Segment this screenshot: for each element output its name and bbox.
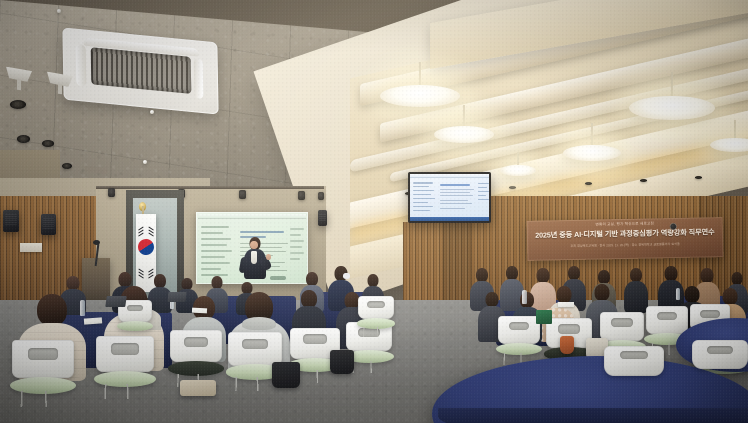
tv-right-item (478, 191, 489, 192)
screen-sidebar-item (201, 226, 229, 228)
screen-right-item (290, 246, 302, 248)
tv-sidebar-item (413, 186, 429, 187)
screen-text-line (240, 266, 280, 267)
tv-text-line (440, 200, 468, 201)
soffit-downlight-6 (640, 179, 647, 182)
bag (330, 350, 354, 374)
wall-speaker-center (41, 214, 56, 235)
screen-right-item (290, 234, 301, 236)
screen-text-line (240, 262, 285, 263)
ceiling-speaker-stem-2 (58, 84, 62, 94)
rect-table-rear-left (208, 296, 296, 344)
event-banner: 변화의 교실, 평가 혁신으로 새로고침 2025년 중등 AI·디지털 기반 … (527, 217, 724, 261)
screen-right-item (290, 228, 304, 230)
tv-sidebar-item (413, 210, 430, 211)
laptop[interactable] (105, 296, 127, 307)
downlight-3 (42, 140, 54, 147)
track-light-5 (318, 192, 324, 200)
track-light-rail (96, 186, 324, 189)
screen-sidebar-item (201, 274, 228, 276)
downlight-1 (10, 100, 26, 109)
screen-text-line (240, 247, 282, 248)
tv-text-line (440, 189, 474, 190)
track-light-3 (239, 190, 246, 199)
screen-text-line (240, 251, 286, 252)
tv-heading (440, 184, 470, 186)
ac-vane-right (194, 58, 204, 99)
taeguk-symbol-icon (135, 236, 157, 258)
rect-table-rear-center (300, 292, 382, 336)
tv-sidebar-item (413, 202, 428, 203)
tv-sidebar-item (413, 198, 435, 199)
tv-right-item (478, 187, 487, 188)
screen-right-item (290, 258, 300, 260)
screen-text-line (240, 270, 287, 271)
tv-text-line (440, 208, 465, 209)
tv-sidebar-item (413, 182, 433, 184)
screen-sidebar-item (201, 268, 221, 270)
track-light-4 (298, 191, 305, 200)
downlight-2 (17, 135, 30, 143)
downlight-5 (62, 163, 72, 169)
screen-sidebar-item (201, 244, 227, 246)
conference-room-photo: 변화의 교실, 평가 혁신으로 새로고침 2025년 중등 AI·디지털 기반 … (0, 0, 748, 423)
tv-text-line (440, 195, 473, 196)
tv-text-line (440, 203, 472, 204)
screen-primary-button (270, 276, 286, 280)
water-bottle (522, 290, 527, 304)
soffit-downlight-7 (695, 176, 702, 179)
laptop[interactable] (167, 292, 186, 302)
korean-national-flag (136, 214, 156, 292)
tv-app-toolbar (410, 174, 489, 178)
water-bottle (676, 288, 680, 300)
wall-speaker-left (3, 210, 19, 232)
wall-mounted-tv (408, 172, 491, 223)
paper-handout (84, 317, 102, 324)
rect-table-mid-left (52, 312, 172, 368)
screen-sidebar-item (201, 238, 231, 240)
tv-sidebar-item (413, 190, 434, 191)
tv-right-item (478, 183, 489, 184)
screen-heading (240, 236, 266, 238)
screen-right-item (290, 252, 304, 254)
wall-sign (20, 243, 42, 252)
soffit-downlight-5 (585, 182, 592, 185)
green-folder (536, 310, 552, 324)
tv-right-item (478, 195, 486, 196)
ceiling-cassette-ac (62, 27, 218, 114)
screen-heading (240, 231, 284, 233)
sprinkler-3 (57, 9, 61, 13)
round-table-skirt (438, 408, 748, 423)
projection-screen (196, 212, 308, 284)
paper-handout (192, 308, 207, 314)
wall-speaker-right (318, 210, 327, 226)
screen-sidebar-item (201, 262, 230, 264)
bag (180, 380, 216, 396)
screen-sidebar-item (201, 250, 232, 252)
screen-toolbar (198, 214, 306, 219)
tv-text-line (440, 192, 470, 193)
screen-sidebar-item (201, 232, 223, 234)
tv-sidebar-item (413, 194, 431, 195)
screen-text-line (240, 243, 288, 244)
screen-text-line (240, 255, 273, 256)
bag (272, 362, 300, 388)
track-light-1 (108, 188, 115, 197)
handbag (560, 336, 574, 354)
tv-screen (410, 174, 489, 221)
soffit-downlight-4 (509, 186, 516, 189)
ceiling-speaker-stem-1 (17, 79, 21, 90)
ac-vane-left (76, 44, 87, 87)
screen-sidebar-item (201, 256, 225, 258)
tv-right-item (478, 199, 489, 200)
sprinkler-1 (150, 110, 154, 114)
tv-status-strip (410, 217, 489, 221)
sprinkler-2 (143, 160, 147, 164)
microphone-icon (93, 240, 100, 245)
tv-sidebar-item (413, 206, 433, 207)
water-bottle (80, 300, 85, 316)
banner-subline: 주최 경상북도교육청 · 일시 2025. 11. 20.(목) · 장소 경북… (527, 240, 723, 249)
banner-title: 2025년 중등 AI·디지털 기반 과정중심평가 역량강화 직무연수 (527, 227, 723, 241)
screen-right-item (290, 240, 304, 242)
paper-handout (558, 302, 574, 307)
